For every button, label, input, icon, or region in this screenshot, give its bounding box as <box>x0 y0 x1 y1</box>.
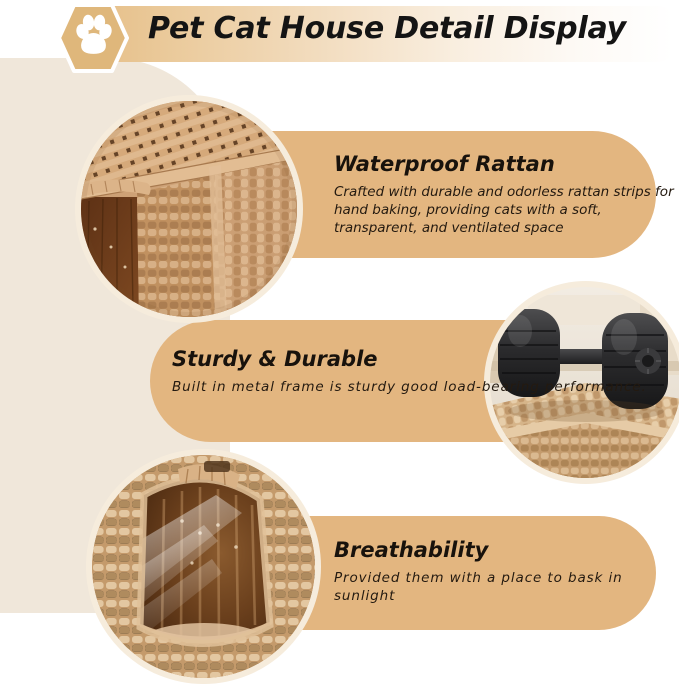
feature-body: Crafted with durable and odorless rattan… <box>334 183 679 237</box>
page-header: Pet Cat House Detail Display <box>0 0 679 76</box>
feature-title: Sturdy & Durable <box>172 347 647 371</box>
feature-photo-breathability <box>86 449 321 684</box>
feature-title: Waterproof Rattan <box>334 152 679 176</box>
feature-body: Built in metal frame is sturdy good load… <box>172 378 647 396</box>
feature-text-breathability: Breathability Provided them with a place… <box>334 538 679 605</box>
cat-house-interior-sunlight-image <box>92 455 315 678</box>
feature-title: Breathability <box>334 538 679 562</box>
feature-text-waterproof-rattan: Waterproof Rattan Crafted with durable a… <box>334 152 679 237</box>
rattan-weave-image <box>81 101 297 317</box>
product-detail-page: Pet Cat House Detail Display <box>0 0 679 685</box>
feature-text-sturdy-durable: Sturdy & Durable Built in metal frame is… <box>172 347 647 396</box>
feature-body: Provided them with a place to bask in su… <box>334 569 679 605</box>
feature-photo-waterproof-rattan <box>75 95 303 323</box>
page-title: Pet Cat House Detail Display <box>148 11 626 46</box>
paw-print-icon <box>56 2 130 74</box>
